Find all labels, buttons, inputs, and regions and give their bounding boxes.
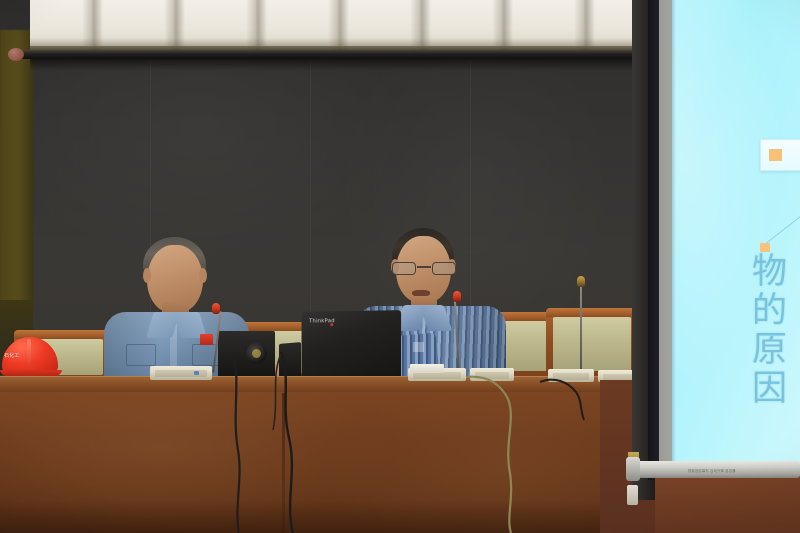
wall-below-screen <box>655 470 800 533</box>
hanging-cable <box>464 373 534 533</box>
slide-char: 因 <box>752 370 800 409</box>
slide-char: 原 <box>752 331 800 370</box>
chair-top-rail <box>546 308 638 317</box>
microphone-head <box>212 303 220 314</box>
eyeglasses <box>391 262 457 275</box>
slide-char: 物 <box>752 253 800 292</box>
curtain-valance <box>30 0 660 52</box>
lens-right <box>432 262 456 275</box>
side-wall-panel <box>0 30 33 330</box>
curtain-rod <box>18 50 663 59</box>
bridge <box>417 266 431 268</box>
ear-right <box>199 268 207 283</box>
ear-left <box>143 268 151 283</box>
chest-emblem <box>413 342 424 352</box>
roller-bar-label: 视频投影幕布 自动升降 遥控器 <box>688 468 768 473</box>
screen-edge-shadow <box>672 0 676 466</box>
screen-roller-end-cap <box>626 457 640 481</box>
conference-photo: 石化工 ThinkPad <box>0 0 800 533</box>
status-led <box>194 371 199 375</box>
lens-left <box>392 262 416 275</box>
hanging-cable <box>275 352 365 533</box>
hanging-cable <box>540 376 590 436</box>
red-hard-hat: 石化工 <box>0 337 62 381</box>
hard-hat-text: 石化工 <box>4 353 38 360</box>
slide-char: 的 <box>752 292 800 331</box>
wall-socket <box>627 485 638 505</box>
curtain-rod-finial <box>8 48 24 61</box>
paper-document <box>410 364 444 373</box>
chair-cushion <box>553 317 631 371</box>
slide-vertical-text: 物 的 原 因 <box>752 253 800 409</box>
slide-marker-icon <box>760 243 770 252</box>
base-panel <box>413 372 461 379</box>
thinkpad-logo: ThinkPad <box>309 318 330 325</box>
company-badge <box>200 334 213 345</box>
microphone-head <box>577 276 585 287</box>
shirt-pocket-left <box>126 344 156 366</box>
rod-shadow <box>30 59 660 71</box>
slide-connector-line <box>766 212 800 248</box>
microphone-head <box>453 291 461 302</box>
microphone-base-unit[interactable] <box>150 366 212 380</box>
slide-marker-icon <box>769 149 782 161</box>
base-panel <box>155 370 207 377</box>
